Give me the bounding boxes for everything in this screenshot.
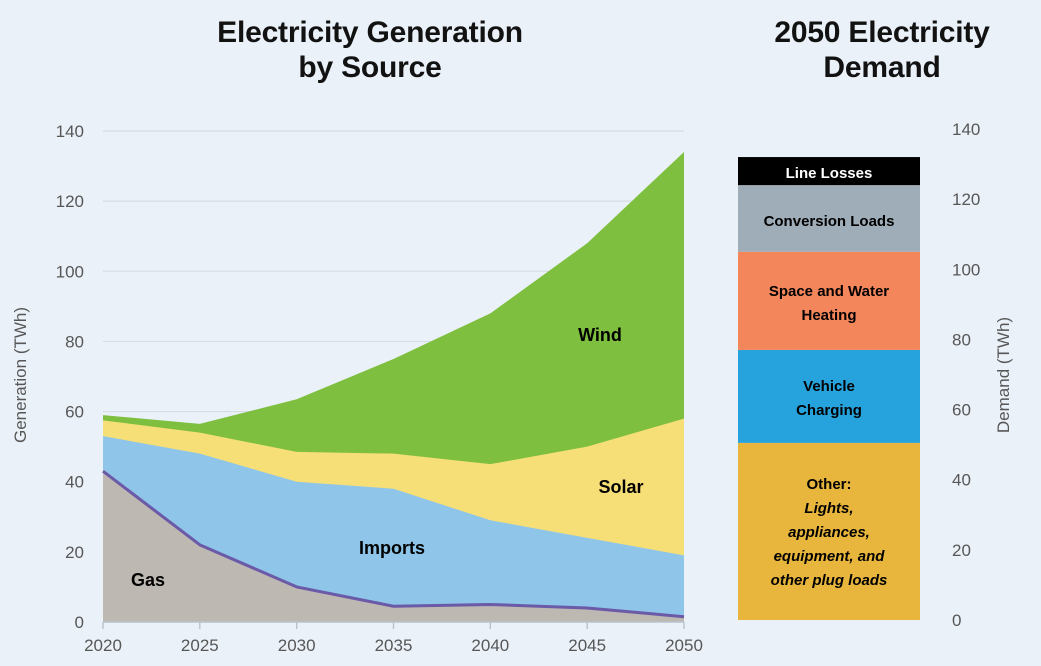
y-tick-label: 140 bbox=[56, 122, 84, 141]
y-tick-label-right: 80 bbox=[952, 330, 971, 349]
y-tick-label: 120 bbox=[56, 192, 84, 211]
bar-label-vehicle-line1: Vehicle bbox=[803, 378, 855, 395]
y-tick-label-right: 140 bbox=[952, 120, 980, 139]
left-x-tick-marks bbox=[103, 622, 684, 629]
y-tick-label-right: 40 bbox=[952, 471, 971, 490]
bar-label-other-line1: Lights, bbox=[804, 500, 853, 517]
x-tick-label: 2020 bbox=[84, 636, 122, 655]
series-label-gas: Gas bbox=[131, 570, 165, 590]
left-x-tick-labels: 2020202520302035204020452050 bbox=[84, 636, 703, 655]
y-tick-label: 20 bbox=[65, 543, 84, 562]
y-tick-label-right: 20 bbox=[952, 541, 971, 560]
charts-canvas: 020406080100120140 202020252030203520402… bbox=[0, 0, 1041, 666]
series-label-imports: Imports bbox=[359, 538, 425, 558]
bar-label-other-heading: Other: bbox=[807, 476, 852, 493]
area-chart: 020406080100120140 202020252030203520402… bbox=[11, 122, 703, 655]
y-tick-label-right: 100 bbox=[952, 260, 980, 279]
x-tick-label: 2040 bbox=[471, 636, 509, 655]
x-tick-label: 2045 bbox=[568, 636, 606, 655]
bar-label-vehicle-line2: Charging bbox=[796, 402, 862, 419]
series-label-wind: Wind bbox=[578, 325, 622, 345]
bar-label-other-line4: other plug loads bbox=[771, 572, 888, 589]
right-y-tick-labels: 020406080100120140 bbox=[952, 120, 980, 630]
left-y-tick-labels: 020406080100120140 bbox=[56, 122, 84, 632]
x-tick-label: 2035 bbox=[375, 636, 413, 655]
figure-root: Electricity Generation by Source 2050 El… bbox=[0, 0, 1041, 666]
bar-label-line-losses: Line Losses bbox=[786, 165, 873, 182]
y-tick-label-right: 60 bbox=[952, 401, 971, 420]
x-tick-label: 2030 bbox=[278, 636, 316, 655]
y-tick-label-right: 0 bbox=[952, 611, 961, 630]
bar-label-other-line2: appliances, bbox=[788, 524, 870, 541]
y-tick-label: 0 bbox=[75, 613, 84, 632]
bar-segment-vehicle-charging bbox=[738, 350, 920, 443]
y-tick-label: 40 bbox=[65, 473, 84, 492]
series-label-solar: Solar bbox=[598, 477, 643, 497]
x-tick-label: 2050 bbox=[665, 636, 703, 655]
bar-segment-heating bbox=[738, 252, 920, 350]
x-tick-label: 2025 bbox=[181, 636, 219, 655]
stacked-bar-chart: 020406080100120140 Demand (TWh) Line Los… bbox=[738, 120, 1013, 630]
bar-label-heating-line2: Heating bbox=[801, 307, 856, 324]
y-tick-label: 60 bbox=[65, 403, 84, 422]
y-tick-label: 100 bbox=[56, 262, 84, 281]
left-y-axis-title: Generation (TWh) bbox=[11, 307, 30, 443]
y-tick-label-right: 120 bbox=[952, 190, 980, 209]
bar-label-other-line3: equipment, and bbox=[774, 548, 886, 565]
bar-label-conversion-loads: Conversion Loads bbox=[764, 213, 895, 230]
bar-label-heating-line1: Space and Water bbox=[769, 283, 889, 300]
y-tick-label: 80 bbox=[65, 332, 84, 351]
right-y-axis-title: Demand (TWh) bbox=[994, 317, 1013, 433]
